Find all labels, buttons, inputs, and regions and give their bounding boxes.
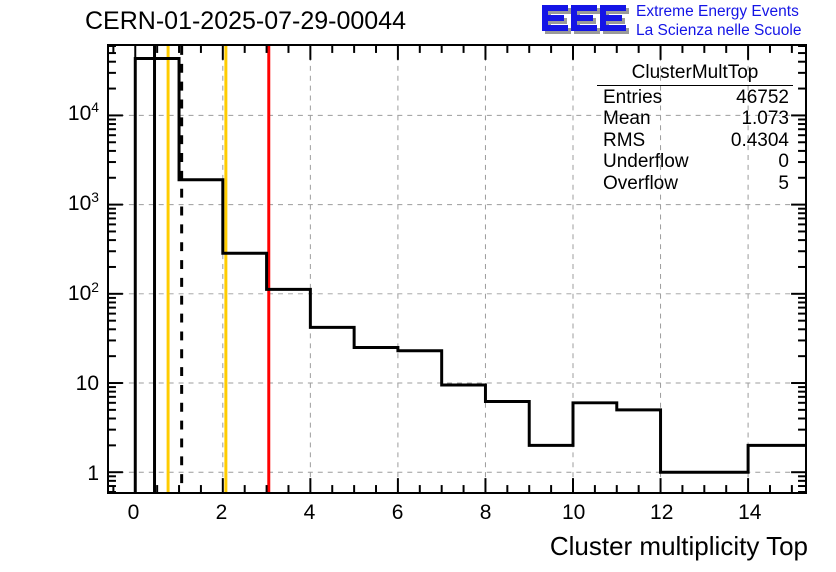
stats-value: 1.073 — [741, 108, 789, 130]
stats-box-title: ClusterMultTop — [597, 62, 793, 86]
stats-row: Underflow0 — [597, 151, 793, 173]
stats-key: Mean — [603, 108, 651, 130]
x-tick-label: 12 — [650, 501, 673, 525]
x-tick-label: 2 — [216, 501, 228, 525]
x-tick-label: 14 — [738, 501, 761, 525]
stats-key: Underflow — [603, 151, 689, 173]
stats-key: Entries — [603, 87, 662, 109]
x-tick-label: 4 — [304, 501, 316, 525]
stats-row: Overflow5 — [597, 173, 793, 195]
x-tick-label: 0 — [128, 501, 140, 525]
stats-row: Entries46752 — [597, 87, 793, 109]
stats-key: Overflow — [603, 173, 678, 195]
x-axis-title: Cluster multiplicity Top — [550, 531, 808, 562]
stats-box-rows: Entries46752Mean1.073RMS0.4304Underflow0… — [597, 87, 793, 195]
stats-value: 0 — [778, 151, 789, 173]
stats-row: RMS0.4304 — [597, 130, 793, 152]
root-canvas: CERN-01-2025-07-29-00044 — [0, 0, 836, 572]
stats-box: ClusterMultTop Entries46752Mean1.073RMS0… — [597, 62, 793, 194]
stats-row: Mean1.073 — [597, 108, 793, 130]
x-tick-label: 8 — [480, 501, 492, 525]
stats-key: RMS — [603, 130, 645, 152]
stats-value: 46752 — [736, 87, 789, 109]
x-tick-label: 6 — [392, 501, 404, 525]
stats-value: 0.4304 — [731, 130, 789, 152]
stats-value: 5 — [778, 173, 789, 195]
x-tick-label: 10 — [562, 501, 585, 525]
